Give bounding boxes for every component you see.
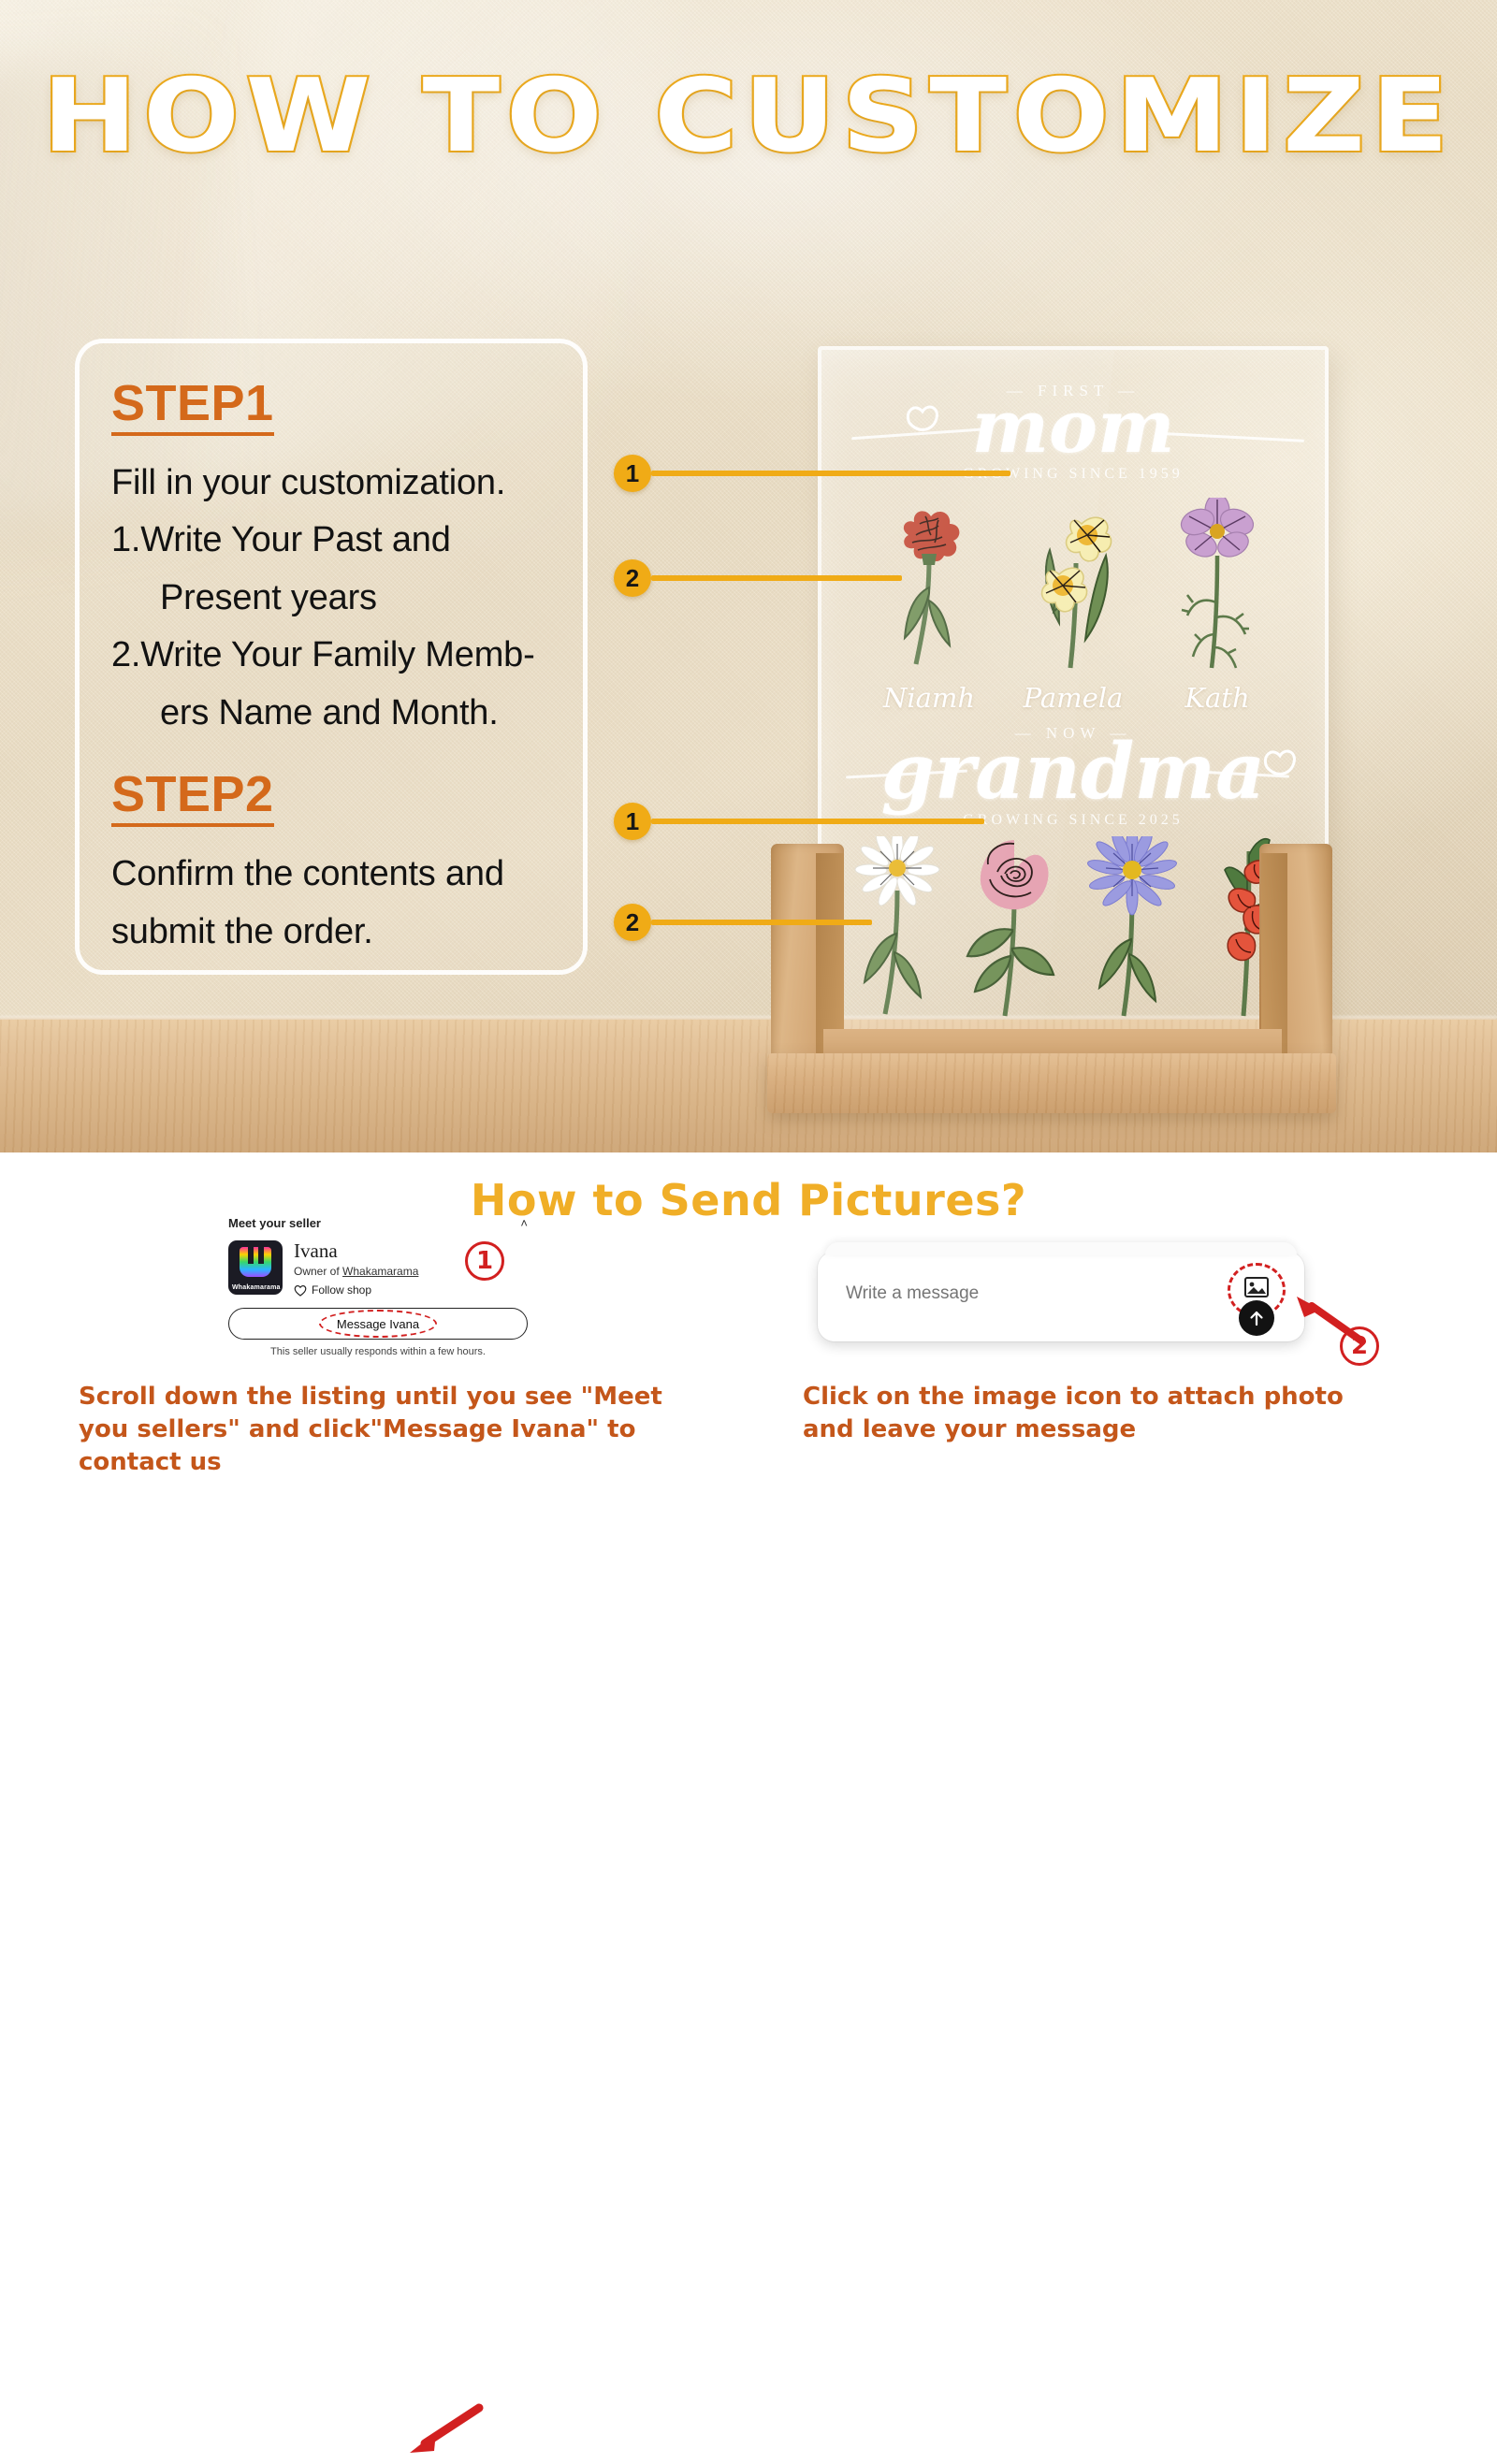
shop-avatar: Whakamarama [228, 1240, 283, 1295]
step2-line1: Confirm the contents and [111, 854, 504, 893]
chevron-up-icon[interactable]: ˄ [520, 1216, 528, 1230]
flower-item: Pamela [1018, 498, 1128, 714]
page-title: HOW TO CUSTOMIZE [0, 58, 1497, 175]
meet-your-seller-label: Meet your seller [228, 1216, 321, 1230]
callout-number-bubble: 1 [614, 803, 651, 840]
seller-card: Meet your seller ˄ Whakamarama Ivana Own… [228, 1216, 528, 1357]
step1-block: STEP1 Fill in your customization. 1.Writ… [111, 377, 551, 742]
seller-name: Ivana [294, 1240, 418, 1262]
highlight-ellipse [319, 1310, 437, 1338]
steps-panel: STEP1 Fill in your customization. 1.Writ… [75, 339, 588, 975]
callout-leader-line [651, 920, 872, 925]
cosmos-icon [1165, 498, 1270, 674]
step1-line2: 1.Write Your Past and [111, 520, 451, 559]
message-composer [818, 1252, 1304, 1341]
logo-cut [258, 1247, 264, 1264]
heart-flourish-icon [902, 395, 954, 438]
step1-line3: 2.Write Your Family Memb- [111, 635, 535, 674]
callout-leader-line [651, 471, 1010, 476]
seller-card-header: Meet your seller ˄ [228, 1216, 528, 1230]
callout-number-bubble: 2 [614, 904, 651, 941]
avatar-brand-text: Whakamarama [232, 1284, 281, 1291]
response-time-note: This seller usually responds within a fe… [228, 1346, 528, 1357]
hero-section: HOW TO CUSTOMIZE STEP1 Fill in your cust… [0, 0, 1497, 1152]
message-input[interactable] [846, 1283, 1155, 1304]
step2-block: STEP2 Confirm the contents and submit th… [111, 768, 551, 961]
step2-line2: submit the order. [111, 912, 373, 951]
marker-number-2: 2 [1340, 1326, 1379, 1366]
seller-info: Ivana Owner of Whakamarama Follow shop [294, 1240, 418, 1297]
caption-left: Scroll down the listing until you see "M… [79, 1381, 696, 1478]
step1-line3b: ers Name and Month. [111, 685, 551, 743]
callout-1-top: 1 [614, 455, 1010, 492]
callout-1-bottom: 1 [614, 803, 984, 840]
caption-right: Click on the image icon to attach photo … [803, 1381, 1383, 1446]
flower-name: Kath [1162, 682, 1272, 714]
follow-shop-label: Follow shop [312, 1283, 371, 1297]
flower-name: Pamela [1018, 682, 1128, 714]
callout-2-bottom: 2 [614, 904, 872, 941]
send-message-button[interactable] [1239, 1300, 1274, 1336]
callout-leader-line [651, 575, 902, 581]
composer-top-edge [825, 1242, 1297, 1255]
flower-name: Niamh [874, 682, 984, 714]
step1-body: Fill in your customization. 1.Write Your… [111, 455, 551, 743]
shop-link[interactable]: Whakamarama [342, 1265, 418, 1278]
send-pictures-title: How to Send Pictures? [0, 1175, 1497, 1225]
seller-owner-line: Owner of Whakamarama [294, 1265, 418, 1278]
plaque-top-word: mom [821, 391, 1325, 464]
red-arrow-icon [393, 2399, 487, 2464]
owner-prefix: Owner of [294, 1265, 342, 1278]
send-arrow-up-icon [1248, 1310, 1265, 1326]
step1-heading: STEP1 [111, 377, 274, 436]
stand-base [767, 1053, 1336, 1113]
plaque-bottom-word: grandma [821, 733, 1325, 810]
message-seller-button[interactable]: Message Ivana [228, 1308, 528, 1340]
callout-2-top: 2 [614, 559, 902, 597]
wooden-stand [767, 833, 1336, 1113]
callout-leader-line [651, 819, 984, 824]
callout-number-bubble: 1 [614, 455, 651, 492]
shop-logo-glyph [240, 1247, 271, 1277]
step2-heading: STEP2 [111, 768, 274, 827]
plaque-top-flower-row: Niamh [821, 498, 1325, 714]
step2-body: Confirm the contents and submit the orde… [111, 846, 551, 961]
step1-line1: Fill in your customization. [111, 463, 505, 502]
callout-number-bubble: 2 [614, 559, 651, 597]
flower-item: Niamh [874, 498, 984, 714]
flower-item: Kath [1162, 498, 1272, 714]
logo-cut [248, 1247, 254, 1264]
heart-flourish-icon [1259, 741, 1308, 782]
daffodil-icon [1018, 498, 1128, 674]
marker-number-1: 1 [465, 1241, 504, 1281]
follow-shop-row[interactable]: Follow shop [294, 1283, 418, 1297]
step1-line2b: Present years [111, 570, 551, 628]
heart-icon [294, 1284, 307, 1297]
